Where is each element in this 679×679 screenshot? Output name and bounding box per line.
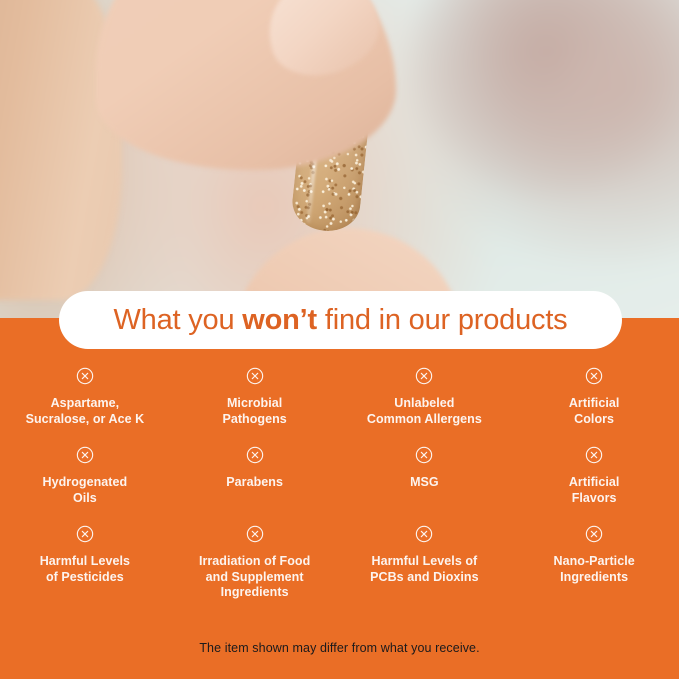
circle-x-icon bbox=[585, 367, 603, 385]
exclusion-grid-row-3: Harmful Levels of Pesticides Irradiation… bbox=[0, 525, 679, 605]
circle-x-icon bbox=[415, 367, 433, 385]
title-pill: What you won’t find in our products bbox=[59, 291, 622, 349]
circle-x-icon bbox=[246, 525, 264, 543]
title-emphasis: won’t bbox=[242, 304, 317, 336]
exclusion-label: Artificial Flavors bbox=[569, 475, 620, 506]
circle-x-icon bbox=[76, 367, 94, 385]
exclusion-label: Parabens bbox=[226, 475, 283, 491]
circle-x-icon bbox=[585, 446, 603, 464]
exclusion-item: Hydrogenated Oils bbox=[0, 446, 170, 525]
page-title: What you won’t find in our products bbox=[114, 306, 568, 335]
exclusion-label: Aspartame, Sucralose, or Ace K bbox=[26, 396, 145, 427]
exclusion-label: Irradiation of Food and Supplement Ingre… bbox=[199, 554, 310, 601]
title-part-2: find in our products bbox=[317, 304, 568, 336]
circle-x-icon bbox=[415, 525, 433, 543]
exclusion-item: Microbial Pathogens bbox=[170, 367, 340, 446]
exclusion-label: Harmful Levels of PCBs and Dioxins bbox=[370, 554, 478, 585]
exclusion-label: Microbial Pathogens bbox=[222, 396, 286, 427]
exclusion-item: MSG bbox=[340, 446, 510, 525]
disclaimer-text: The item shown may differ from what you … bbox=[199, 641, 479, 655]
product-claims-panel: What you won’t find in our products Aspa… bbox=[0, 0, 679, 679]
exclusion-grid-row-2: Hydrogenated Oils Parabens MSG Artificia… bbox=[0, 446, 679, 525]
exclusion-label: Unlabeled Common Allergens bbox=[367, 396, 482, 427]
circle-x-icon bbox=[415, 446, 433, 464]
circle-x-icon bbox=[585, 525, 603, 543]
footer: The item shown may differ from what you … bbox=[0, 639, 679, 657]
exclusion-item: Parabens bbox=[170, 446, 340, 525]
exclusion-item: Artificial Flavors bbox=[509, 446, 679, 525]
title-part-1: What you bbox=[114, 304, 243, 336]
exclusion-item: Artificial Colors bbox=[509, 367, 679, 446]
exclusion-item: Unlabeled Common Allergens bbox=[340, 367, 510, 446]
exclusion-label: Artificial Colors bbox=[569, 396, 620, 427]
circle-x-icon bbox=[76, 525, 94, 543]
exclusion-grid-row-1: Aspartame, Sucralose, or Ace K Microbial… bbox=[0, 367, 679, 446]
circle-x-icon bbox=[246, 367, 264, 385]
exclusion-item: Nano-Particle Ingredients bbox=[509, 525, 679, 605]
exclusion-item: Harmful Levels of PCBs and Dioxins bbox=[340, 525, 510, 605]
circle-x-icon bbox=[76, 446, 94, 464]
exclusion-item: Irradiation of Food and Supplement Ingre… bbox=[170, 525, 340, 605]
exclusion-label: Hydrogenated Oils bbox=[43, 475, 128, 506]
hero-photo bbox=[0, 0, 679, 318]
exclusion-label: Harmful Levels of Pesticides bbox=[40, 554, 130, 585]
circle-x-icon bbox=[246, 446, 264, 464]
exclusion-label: Nano-Particle Ingredients bbox=[554, 554, 635, 585]
exclusion-label: MSG bbox=[410, 475, 439, 491]
exclusion-item: Harmful Levels of Pesticides bbox=[0, 525, 170, 605]
exclusion-item: Aspartame, Sucralose, or Ace K bbox=[0, 367, 170, 446]
